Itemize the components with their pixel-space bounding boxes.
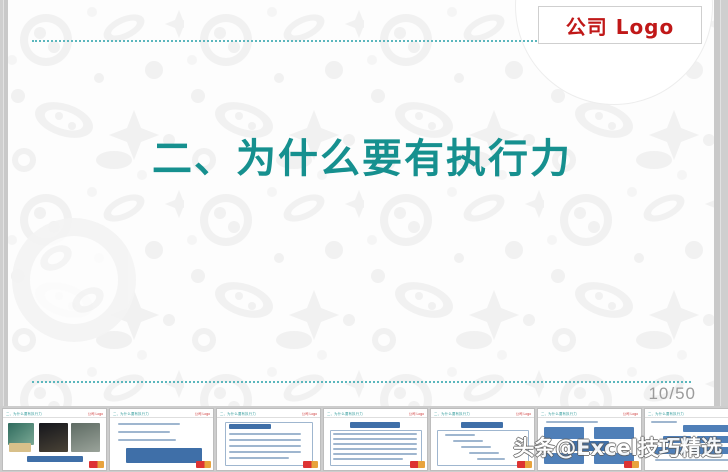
slide-thumbnail-strip[interactable]: 二、为什么要有执行力 公司 Logo 二、为什么要有执行力 公司 Logo — [0, 406, 728, 472]
slide-right-edge — [714, 0, 720, 406]
thumbnail-title: 二、为什么要有执行力 — [220, 411, 256, 416]
thumbnail-text-line — [229, 457, 289, 459]
thumbnail-text-line — [651, 421, 677, 423]
page-title: 二、为什么要有执行力 — [152, 126, 572, 184]
company-logo-text: 公司 Logo — [566, 11, 675, 40]
thumbnail-node — [544, 453, 584, 464]
thumbnail-header: 二、为什么要有执行力 公司 Logo — [538, 409, 641, 418]
thumbnail-heading-bar — [461, 422, 503, 428]
thumbnail-slide-4[interactable]: 二、为什么要有执行力 公司 Logo — [323, 408, 428, 471]
current-slide[interactable]: 公司 Logo 二、为什么要有执行力 10/50 — [4, 0, 720, 406]
thumbnail-text-line — [333, 438, 417, 440]
slide-title-area: 二、为什么要有执行力 — [4, 126, 720, 184]
thumbnail-body — [324, 419, 427, 470]
company-logo-box: 公司 Logo — [538, 6, 702, 44]
thumbnail-node — [697, 436, 728, 443]
thumbnail-text-line — [333, 453, 417, 455]
thumbnail-title: 二、为什么要有执行力 — [113, 411, 149, 416]
thumbnail-text-line — [333, 458, 403, 460]
thumbnail-flag-mark — [303, 461, 318, 468]
thumbnail-text-line — [445, 434, 475, 436]
thumbnail-image — [8, 423, 34, 445]
thumbnail-header: 二、为什么要有执行力 公司 Logo — [645, 409, 728, 418]
thumbnail-body — [217, 419, 320, 470]
page-number: 10/50 — [648, 384, 696, 404]
thumbnail-slide-5[interactable]: 二、为什么要有执行力 公司 Logo — [430, 408, 535, 471]
thumbnail-header: 二、为什么要有执行力 公司 Logo — [110, 409, 213, 418]
thumbnail-slide-1[interactable]: 二、为什么要有执行力 公司 Logo — [2, 408, 107, 471]
thumbnail-node — [693, 447, 728, 454]
thumbnail-slide-2[interactable]: 二、为什么要有执行力 公司 Logo — [109, 408, 214, 471]
thumbnail-logo: 公司 Logo — [88, 411, 103, 416]
slide-left-edge — [4, 0, 8, 406]
thumbnail-heading-bar — [350, 422, 400, 428]
thumbnail-node — [655, 447, 685, 454]
thumbnail-logo: 公司 Logo — [623, 411, 638, 416]
thumbnail-text-line — [469, 452, 499, 454]
thumbnail-image — [39, 423, 68, 452]
thumbnail-text-line — [333, 433, 417, 435]
thumbnail-text-line — [229, 451, 301, 453]
thumbnail-header: 二、为什么要有执行力 公司 Logo — [431, 409, 534, 418]
thumbnail-flag-mark — [410, 461, 425, 468]
thumbnail-body — [110, 419, 213, 470]
thumbnail-image — [71, 423, 100, 452]
thumbnail-node — [594, 427, 634, 439]
thumbnail-node — [683, 425, 728, 432]
thumbnail-text-line — [118, 423, 180, 425]
thumbnail-text-line — [118, 431, 170, 433]
thumbnail-text-line — [461, 446, 491, 448]
footer-dotted-rule — [32, 381, 691, 383]
thumbnail-text-line — [229, 445, 301, 447]
thumbnail-title: 二、为什么要有执行力 — [434, 411, 470, 416]
thumbnail-header: 二、为什么要有执行力 公司 Logo — [217, 409, 320, 418]
thumbnail-text-line — [229, 433, 301, 435]
thumbnail-flag-mark — [196, 461, 211, 468]
thumbnail-logo: 公司 Logo — [516, 411, 531, 416]
thumbnail-text-line — [655, 459, 728, 461]
presentation-viewer: 公司 Logo 二、为什么要有执行力 10/50 二、为什么要有执行力 公司 L… — [0, 0, 728, 472]
thumbnail-text-line — [333, 448, 417, 450]
thumbnail-logo: 公司 Logo — [302, 411, 317, 416]
thumbnail-caption-bar — [27, 456, 83, 462]
thumbnail-body — [3, 419, 106, 470]
thumbnail-slide-3[interactable]: 二、为什么要有执行力 公司 Logo — [216, 408, 321, 471]
thumbnail-node-center — [569, 441, 609, 451]
thumbnail-image — [9, 443, 31, 452]
thumbnail-node — [663, 436, 691, 443]
thumbnail-callout — [126, 448, 202, 463]
thumbnail-title: 二、为什么要有执行力 — [541, 411, 577, 416]
thumbnail-body — [431, 419, 534, 470]
thumbnail-text-line — [333, 443, 417, 445]
thumbnail-slide-7[interactable]: 二、为什么要有执行力 公司 Logo — [644, 408, 728, 471]
thumbnail-slide-6[interactable]: 二、为什么要有执行力 公司 Logo — [537, 408, 642, 471]
thumbnail-text-line — [453, 440, 483, 442]
thumbnail-body — [538, 419, 641, 470]
thumbnail-text-line — [118, 439, 176, 441]
header-dotted-rule — [32, 40, 540, 42]
thumbnail-logo: 公司 Logo — [195, 411, 210, 416]
thumbnail-title: 二、为什么要有执行力 — [6, 411, 42, 416]
thumbnail-flag-mark — [89, 461, 104, 468]
thumbnail-title: 二、为什么要有执行力 — [648, 411, 684, 416]
thumbnail-header: 二、为什么要有执行力 公司 Logo — [324, 409, 427, 418]
thumbnail-text-line — [477, 458, 505, 460]
thumbnail-logo: 公司 Logo — [409, 411, 424, 416]
thumbnail-header: 二、为什么要有执行力 公司 Logo — [3, 409, 106, 418]
thumbnail-node — [544, 427, 584, 439]
thumbnail-flag-mark — [517, 461, 532, 468]
thumbnail-title: 二、为什么要有执行力 — [327, 411, 363, 416]
thumbnail-row-header — [229, 424, 271, 429]
thumbnail-body — [645, 419, 728, 470]
thumbnail-text-line — [229, 439, 301, 441]
thumbnail-text-line — [546, 421, 598, 423]
thumbnail-flag-mark — [624, 461, 639, 468]
